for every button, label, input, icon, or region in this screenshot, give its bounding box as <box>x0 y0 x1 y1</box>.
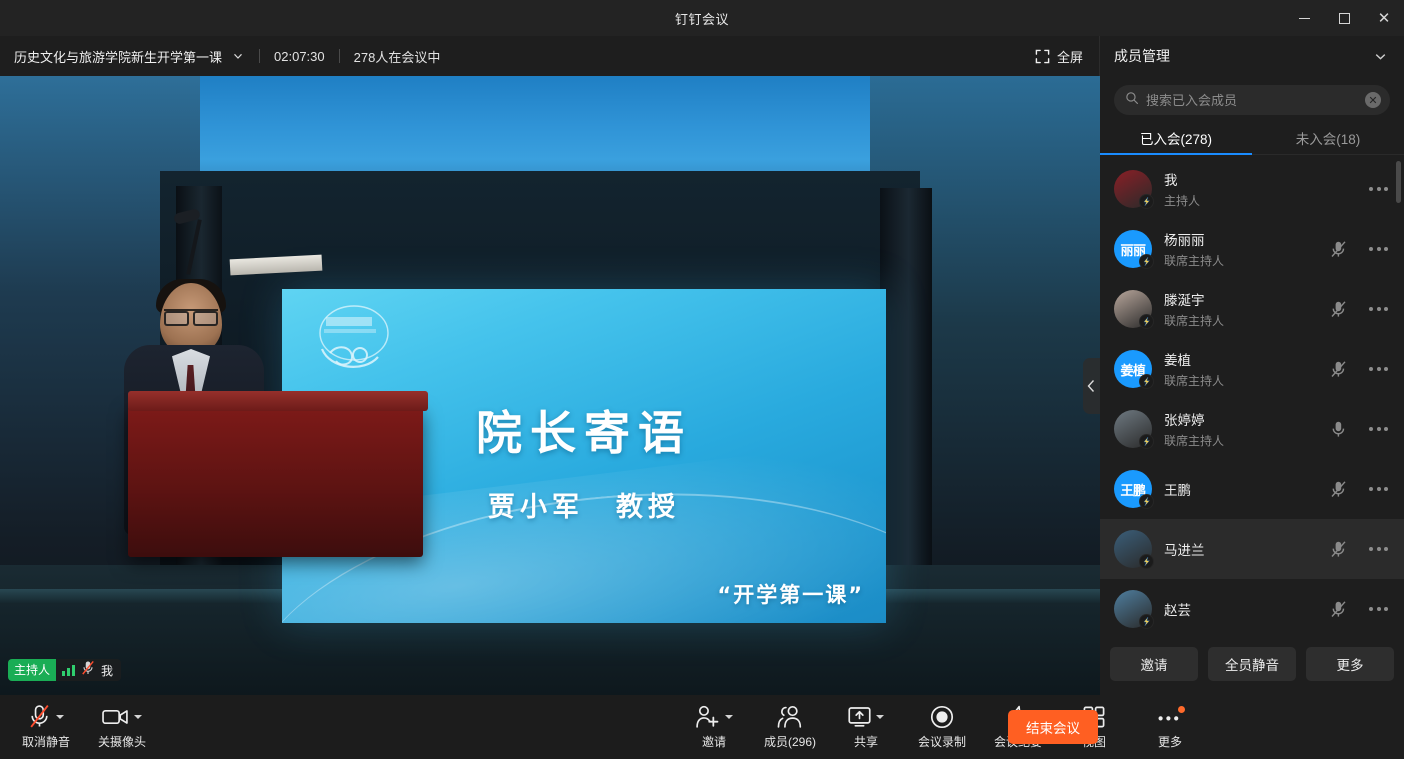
member-info: 杨丽丽 联席主持人 <box>1164 229 1224 269</box>
search-area: ✕ <box>1100 76 1404 121</box>
end-meeting-button[interactable]: 结束会议 <box>1008 710 1098 744</box>
invite-person-icon <box>695 705 720 729</box>
mute-all-button[interactable]: 全员静音 <box>1208 647 1296 681</box>
toolbar-item-more-dots[interactable]: 更多 <box>1132 695 1208 759</box>
member-row[interactable]: 丽丽 杨丽丽 联席主持人 <box>1100 219 1404 279</box>
member-row[interactable]: 赵芸 <box>1100 579 1404 633</box>
sub-header: 历史文化与旅游学院新生开学第一课 02:07:30 278人在会议中 全屏 成员… <box>0 36 1404 76</box>
member-info: 张婷婷 联席主持人 <box>1164 409 1224 449</box>
member-info: 赵芸 <box>1164 599 1191 619</box>
member-row[interactable]: 张婷婷 联席主持人 <box>1100 399 1404 459</box>
mic-on-icon[interactable] <box>1329 420 1347 439</box>
maximize-icon[interactable] <box>1324 0 1364 36</box>
toolbar-item-label: 会议录制 <box>918 733 966 750</box>
more-button[interactable]: 更多 <box>1306 647 1394 681</box>
member-name: 姜植 <box>1164 349 1224 369</box>
member-list[interactable]: 我 主持人 丽丽 杨丽丽 联席主持人 滕涎宇 联席主持人 <box>1100 155 1404 633</box>
title-bar: 钉钉会议 ✕ <box>0 0 1404 36</box>
mic-muted-icon[interactable] <box>1329 480 1347 499</box>
member-name: 王鹏 <box>1164 479 1191 499</box>
record-icon <box>930 705 954 729</box>
self-name: 我 <box>101 662 113 679</box>
member-role: 联席主持人 <box>1164 252 1224 269</box>
member-tools <box>1329 240 1388 259</box>
mic-muted-icon <box>81 660 95 681</box>
member-role: 联席主持人 <box>1164 432 1224 449</box>
member-info: 姜植 联席主持人 <box>1164 349 1224 389</box>
notification-dot <box>1178 706 1185 713</box>
avatar <box>1114 410 1152 448</box>
toolbar-item-label: 共享 <box>854 733 878 750</box>
member-name: 滕涎宇 <box>1164 289 1224 309</box>
minimize-icon[interactable] <box>1284 0 1324 36</box>
toolbar-item-share-screen[interactable]: 共享 <box>828 695 904 759</box>
collapse-panel-chevron-left-icon[interactable] <box>1083 358 1100 414</box>
member-row[interactable]: 马进兰 <box>1100 519 1404 579</box>
toolbar-item-mic-muted[interactable]: 取消静音 <box>8 695 84 759</box>
member-tools <box>1329 480 1388 499</box>
toolbar-item-label: 更多 <box>1158 733 1182 750</box>
school-logo-icon <box>308 303 404 381</box>
member-more-options-icon[interactable] <box>1369 187 1388 191</box>
slide-corner-text: “开学第一课” <box>717 579 864 609</box>
dingtalk-badge-icon <box>1139 254 1154 269</box>
member-more-options-icon[interactable] <box>1369 247 1388 251</box>
chevron-down-icon[interactable] <box>231 49 245 63</box>
mic-muted-icon[interactable] <box>1329 540 1347 559</box>
member-tools <box>1329 300 1388 319</box>
search-box[interactable]: ✕ <box>1114 85 1390 115</box>
toolbar-item-label: 取消静音 <box>22 733 70 750</box>
dingtalk-badge-icon <box>1139 554 1154 569</box>
fullscreen-button[interactable]: 全屏 <box>1035 47 1099 66</box>
clear-search-icon[interactable]: ✕ <box>1365 92 1381 108</box>
member-name: 杨丽丽 <box>1164 229 1224 249</box>
member-info: 我 主持人 <box>1164 169 1200 209</box>
dingtalk-badge-icon <box>1139 374 1154 389</box>
toolbar-item-record[interactable]: 会议录制 <box>904 695 980 759</box>
close-icon[interactable]: ✕ <box>1364 0 1404 36</box>
member-more-options-icon[interactable] <box>1369 487 1388 491</box>
member-info: 王鹏 <box>1164 479 1191 499</box>
member-more-options-icon[interactable] <box>1369 547 1388 551</box>
chevron-down-icon[interactable] <box>725 715 733 719</box>
scene-pillar-right <box>880 188 932 599</box>
divider <box>259 49 260 63</box>
podium <box>128 407 423 557</box>
window-controls: ✕ <box>1284 0 1404 36</box>
video-stage[interactable]: 院长寄语 贾小军 教授 “开学第一课” <box>0 76 1100 695</box>
dingtalk-badge-icon <box>1139 194 1154 209</box>
search-icon <box>1125 91 1139 110</box>
dingtalk-badge-icon <box>1139 614 1154 629</box>
tab-joined[interactable]: 已入会(278) <box>1100 121 1252 154</box>
signal-bars-icon <box>62 664 75 676</box>
invite-button[interactable]: 邀请 <box>1110 647 1198 681</box>
member-row[interactable]: 滕涎宇 联席主持人 <box>1100 279 1404 339</box>
avatar <box>1114 590 1152 628</box>
meeting-title: 历史文化与旅游学院新生开学第一课 <box>14 47 222 66</box>
avatar: 丽丽 <box>1114 230 1152 268</box>
tab-not-joined[interactable]: 未入会(18) <box>1252 121 1404 154</box>
speaker-figure <box>118 283 288 613</box>
fullscreen-label: 全屏 <box>1057 47 1083 66</box>
member-name: 马进兰 <box>1164 539 1205 559</box>
toolbar-left-group: 取消静音 关摄像头 <box>8 695 160 759</box>
dingtalk-badge-icon <box>1139 434 1154 449</box>
more-dots-icon <box>1157 705 1183 729</box>
avatar <box>1114 170 1152 208</box>
avatar <box>1114 290 1152 328</box>
dingtalk-meeting-window: 钉钉会议 ✕ 历史文化与旅游学院新生开学第一课 02:07:30 278人在会议… <box>0 0 1404 759</box>
toolbar-item-label: 关摄像头 <box>98 733 146 750</box>
shared-video-scene: 院长寄语 贾小军 教授 “开学第一课” <box>0 76 1100 695</box>
member-info: 滕涎宇 联席主持人 <box>1164 289 1224 329</box>
chevron-down-icon[interactable] <box>56 715 64 719</box>
fullscreen-icon <box>1035 49 1050 64</box>
member-name: 张婷婷 <box>1164 409 1224 429</box>
member-more-options-icon[interactable] <box>1369 607 1388 611</box>
member-tools <box>1329 600 1388 619</box>
panel-title: 成员管理 <box>1114 46 1170 66</box>
member-name: 赵芸 <box>1164 599 1191 619</box>
toolbar-item-label: 成员(296) <box>764 733 816 750</box>
chevron-down-icon[interactable] <box>876 715 884 719</box>
members-icon <box>777 705 803 729</box>
main-body: 院长寄语 贾小军 教授 “开学第一课” <box>0 76 1404 695</box>
avatar: 姜植 <box>1114 350 1152 388</box>
toolbar-center-group: 邀请 成员(296) 共享 会议录制 会议纪要 视图 更多 <box>676 695 1208 759</box>
app-title: 钉钉会议 <box>675 9 729 28</box>
glasses-icon <box>164 309 218 320</box>
member-row[interactable]: 王鹏 王鹏 <box>1100 459 1404 519</box>
chevron-down-icon[interactable] <box>134 715 142 719</box>
toolbar-item-members[interactable]: 成员(296) <box>752 695 828 759</box>
member-management-panel: ✕ 已入会(278) 未入会(18) 我 主持人 丽丽 <box>1100 76 1404 695</box>
meeting-info-bar: 历史文化与旅游学院新生开学第一课 02:07:30 278人在会议中 全屏 <box>0 36 1100 76</box>
member-tools <box>1329 540 1388 559</box>
camera-icon <box>102 705 129 729</box>
member-name: 我 <box>1164 169 1200 189</box>
member-tabs: 已入会(278) 未入会(18) <box>1100 121 1404 155</box>
mic-muted-icon[interactable] <box>1329 300 1347 319</box>
member-list-scrollbar[interactable] <box>1396 161 1401 203</box>
member-more-options-icon[interactable] <box>1369 307 1388 311</box>
member-more-options-icon[interactable] <box>1369 367 1388 371</box>
member-row[interactable]: 姜植 姜植 联席主持人 <box>1100 339 1404 399</box>
member-tools <box>1329 187 1388 191</box>
self-host-badge: 主持人 我 <box>8 659 121 681</box>
mic-muted-icon[interactable] <box>1329 600 1347 619</box>
panel-collapse-chevron-down-icon[interactable] <box>1373 49 1388 64</box>
search-input[interactable] <box>1146 93 1358 108</box>
mic-muted-icon <box>28 705 51 729</box>
meeting-timer: 02:07:30 <box>274 49 325 64</box>
dingtalk-badge-icon <box>1139 494 1154 509</box>
participants-status: 278人在会议中 <box>354 47 441 66</box>
member-role: 主持人 <box>1164 192 1200 209</box>
dingtalk-badge-icon <box>1139 314 1154 329</box>
host-role-chip: 主持人 <box>8 659 56 681</box>
podium-top <box>128 391 428 411</box>
member-tools <box>1329 420 1388 439</box>
divider <box>339 49 340 63</box>
member-tools <box>1329 360 1388 379</box>
avatar: 王鹏 <box>1114 470 1152 508</box>
member-info: 马进兰 <box>1164 539 1205 559</box>
panel-action-bar: 邀请 全员静音 更多 <box>1100 633 1404 695</box>
toolbar-item-label: 邀请 <box>702 733 726 750</box>
member-row[interactable]: 我 主持人 <box>1100 159 1404 219</box>
share-screen-icon <box>848 705 871 729</box>
panel-header: 成员管理 <box>1100 36 1404 76</box>
mic-muted-icon[interactable] <box>1329 360 1347 379</box>
meeting-toolbar: 取消静音 关摄像头 邀请 成员(296) 共享 会议录制 <box>0 695 1404 759</box>
toolbar-item-invite-person[interactable]: 邀请 <box>676 695 752 759</box>
member-role: 联席主持人 <box>1164 312 1224 329</box>
member-role: 联席主持人 <box>1164 372 1224 389</box>
avatar <box>1114 530 1152 568</box>
mic-muted-icon[interactable] <box>1329 240 1347 259</box>
member-more-options-icon[interactable] <box>1369 427 1388 431</box>
toolbar-item-camera[interactable]: 关摄像头 <box>84 695 160 759</box>
